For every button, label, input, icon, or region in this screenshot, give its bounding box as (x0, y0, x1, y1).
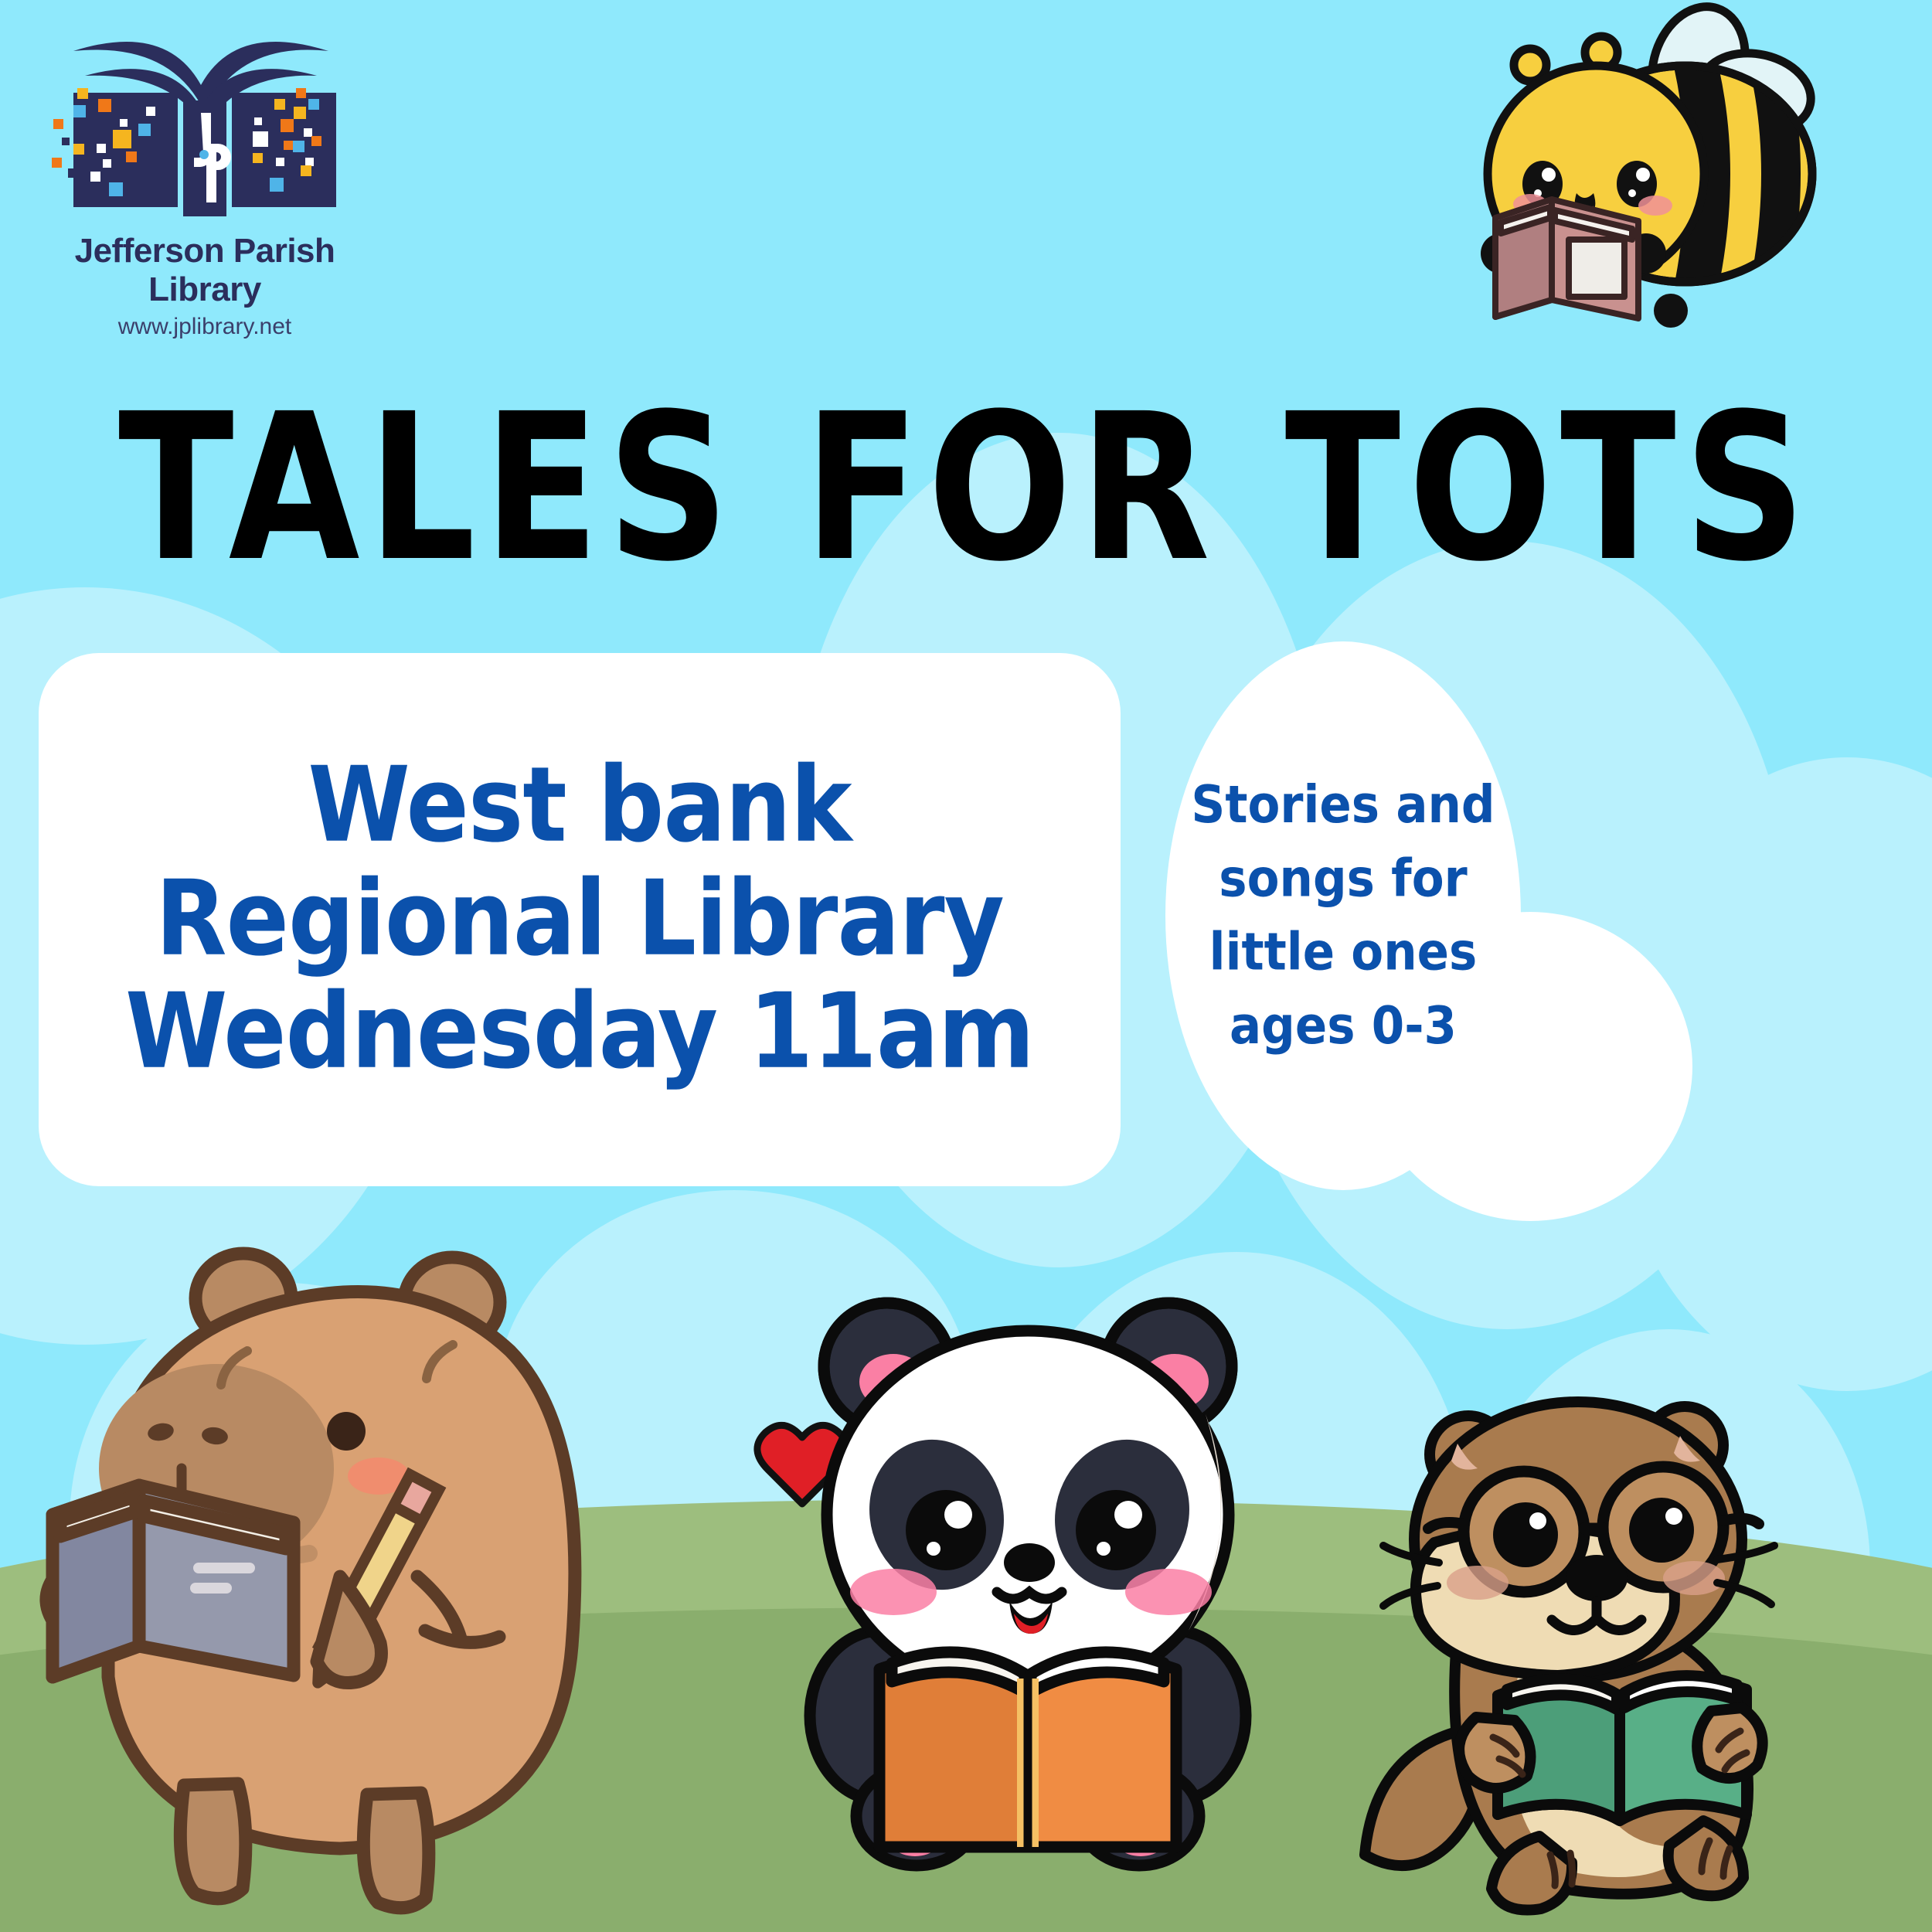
panda-illustration (742, 1283, 1314, 1932)
capybara-illustration (15, 1213, 634, 1932)
library-logo[interactable]: Jefferson Parish Library www.jplibrary.n… (43, 14, 367, 340)
audience-blurb-text: Stories and songs for little ones ages 0… (1165, 768, 1521, 1063)
info-line-venue-2: Regional Library (155, 856, 1004, 983)
info-line-datetime: Wednesday 11am (125, 969, 1034, 1096)
audience-blurb-bubble: Stories and songs for little ones ages 0… (1165, 641, 1521, 1190)
bee-reading-icon (1453, 8, 1839, 363)
otter-illustration (1360, 1368, 1862, 1932)
open-book-logo-icon (43, 14, 367, 230)
poster-canvas: Jefferson Parish Library www.jplibrary.n… (0, 0, 1932, 1932)
info-line-venue-1: West bank (308, 743, 851, 870)
logo-library-name: Jefferson Parish Library (43, 232, 367, 309)
event-info-card: West bank Regional Library Wednesday 11a… (39, 653, 1121, 1186)
page-title: TALES FOR TOTS (0, 386, 1932, 589)
logo-website-url: www.jplibrary.net (43, 314, 367, 340)
